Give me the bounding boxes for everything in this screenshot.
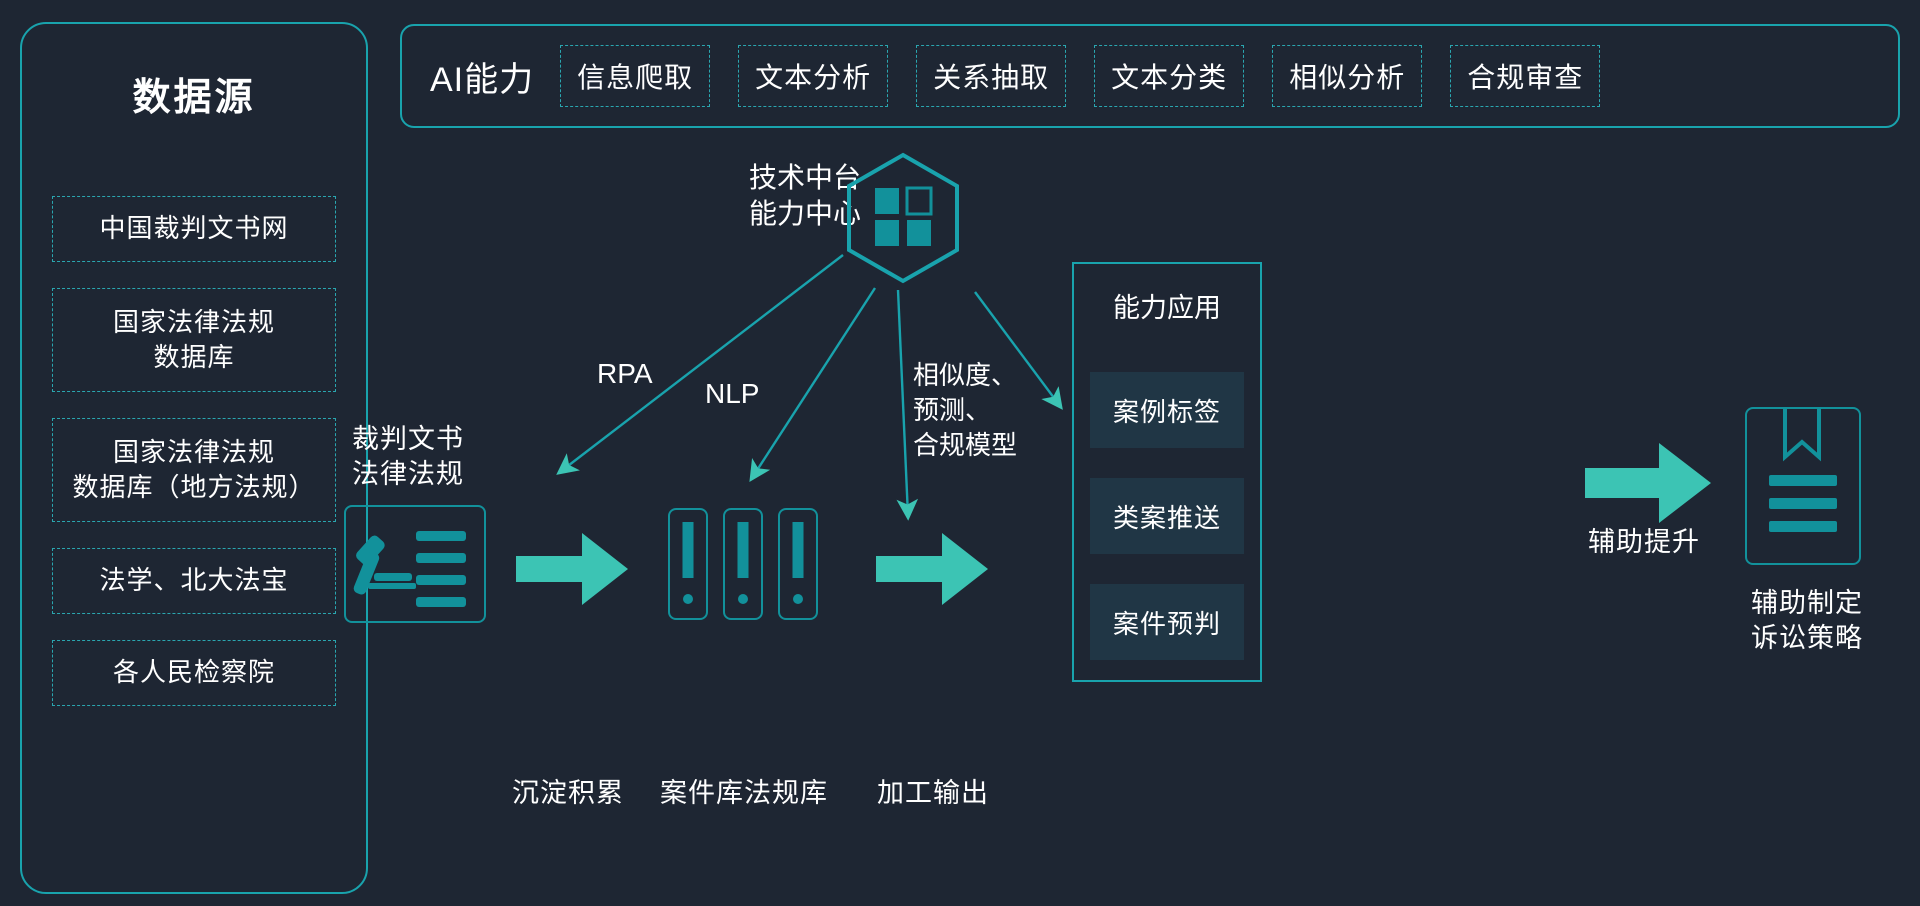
flow-arrow-2 [876, 530, 990, 613]
data-source-title: 数据源 [22, 66, 366, 121]
outcome-label-line1: 辅助制定 [1735, 586, 1879, 621]
data-source-item-1[interactable]: 中国裁判文书网 [52, 196, 336, 262]
arrow-label-model-line3: 合规模型 [913, 428, 1017, 463]
capability-application-panel: 能力应用 案例标签 类案推送 案件预判 [1072, 262, 1262, 682]
arrow-label-model-line1: 相似度、 [913, 358, 1017, 393]
database-unit-2-led [738, 594, 748, 604]
flow-arrow-3 [1585, 440, 1713, 531]
database-unit-3-bar [793, 522, 804, 578]
arrow-label-nlp: NLP [705, 378, 759, 410]
data-source-item-4[interactable]: 法学、北大法宝 [52, 548, 336, 614]
document-caption-line2: 法律法规 [352, 457, 464, 492]
database-unit-3 [778, 508, 818, 620]
arrow-model-output [898, 290, 908, 516]
database-unit-1-bar [683, 522, 694, 578]
database-unit-2 [723, 508, 763, 620]
hexagon-grid-icon[interactable] [845, 152, 961, 284]
gavel-document-icon[interactable] [344, 505, 486, 623]
stage-label-3: 加工输出 [848, 776, 1018, 811]
ai-chip-1[interactable]: 信息爬取 [560, 45, 710, 107]
capability-item-case-tag[interactable]: 案例标签 [1090, 372, 1244, 448]
document-caption: 裁判文书 法律法规 [352, 422, 464, 492]
capability-item-list: 案例标签 类案推送 案件预判 [1090, 372, 1244, 690]
database-unit-1-led [683, 594, 693, 604]
capability-item-case-prediction[interactable]: 案件预判 [1090, 584, 1244, 660]
data-source-item-2-label: 国家法律法规数据库 [113, 305, 275, 375]
ai-capability-title: AI能力 [430, 52, 534, 101]
outcome-label: 辅助制定 诉讼策略 [1735, 586, 1879, 656]
database-unit-3-led [793, 594, 803, 604]
ai-capability-bar: AI能力 信息爬取 文本分析 关系抽取 文本分类 相似分析 合规审查 [400, 24, 1900, 128]
ai-capability-chip-list: 信息爬取 文本分析 关系抽取 文本分类 相似分析 合规审查 [560, 45, 1600, 107]
outcome-label-line2: 诉讼策略 [1735, 621, 1879, 656]
data-source-item-4-label: 法学、北大法宝 [99, 563, 288, 598]
bookmark-document-icon[interactable] [1745, 407, 1861, 565]
data-source-item-3[interactable]: 国家法律法规数据库（地方法规） [52, 418, 336, 522]
arrow-label-rpa: RPA [597, 358, 653, 390]
stage-label-1: 沉淀积累 [478, 776, 658, 811]
ai-chip-4[interactable]: 文本分类 [1094, 45, 1244, 107]
capability-item-similar-case-push[interactable]: 类案推送 [1090, 478, 1244, 554]
diagram-canvas: 数据源 中国裁判文书网 国家法律法规数据库 国家法律法规数据库（地方法规） 法学… [0, 0, 1920, 906]
ai-chip-6[interactable]: 合规审查 [1450, 45, 1600, 107]
data-source-item-5[interactable]: 各人民检察院 [52, 640, 336, 706]
capability-panel-title: 能力应用 [1074, 286, 1260, 325]
arrow-label-model-line2: 预测、 [913, 393, 1017, 428]
ai-chip-3[interactable]: 关系抽取 [916, 45, 1066, 107]
arrow-nlp [752, 288, 875, 478]
arrow-label-model: 相似度、 预测、 合规模型 [913, 358, 1017, 463]
database-unit-2-bar [738, 522, 749, 578]
data-source-item-3-label: 国家法律法规数据库（地方法规） [72, 435, 315, 505]
data-source-panel: 数据源 中国裁判文书网 国家法律法规数据库 国家法律法规数据库（地方法规） 法学… [20, 22, 368, 894]
data-source-item-2[interactable]: 国家法律法规数据库 [52, 288, 336, 392]
data-source-list: 中国裁判文书网 国家法律法规数据库 国家法律法规数据库（地方法规） 法学、北大法… [52, 196, 336, 732]
ai-chip-2[interactable]: 文本分析 [738, 45, 888, 107]
data-source-item-5-label: 各人民检察院 [113, 655, 275, 690]
ai-chip-5[interactable]: 相似分析 [1272, 45, 1422, 107]
document-caption-line1: 裁判文书 [352, 422, 464, 457]
data-source-item-1-label: 中国裁判文书网 [99, 211, 288, 246]
stage-label-2: 案件库法规库 [644, 776, 844, 811]
flow-arrow-1 [516, 530, 630, 613]
assist-label: 辅助提升 [1588, 525, 1700, 560]
database-unit-1 [668, 508, 708, 620]
